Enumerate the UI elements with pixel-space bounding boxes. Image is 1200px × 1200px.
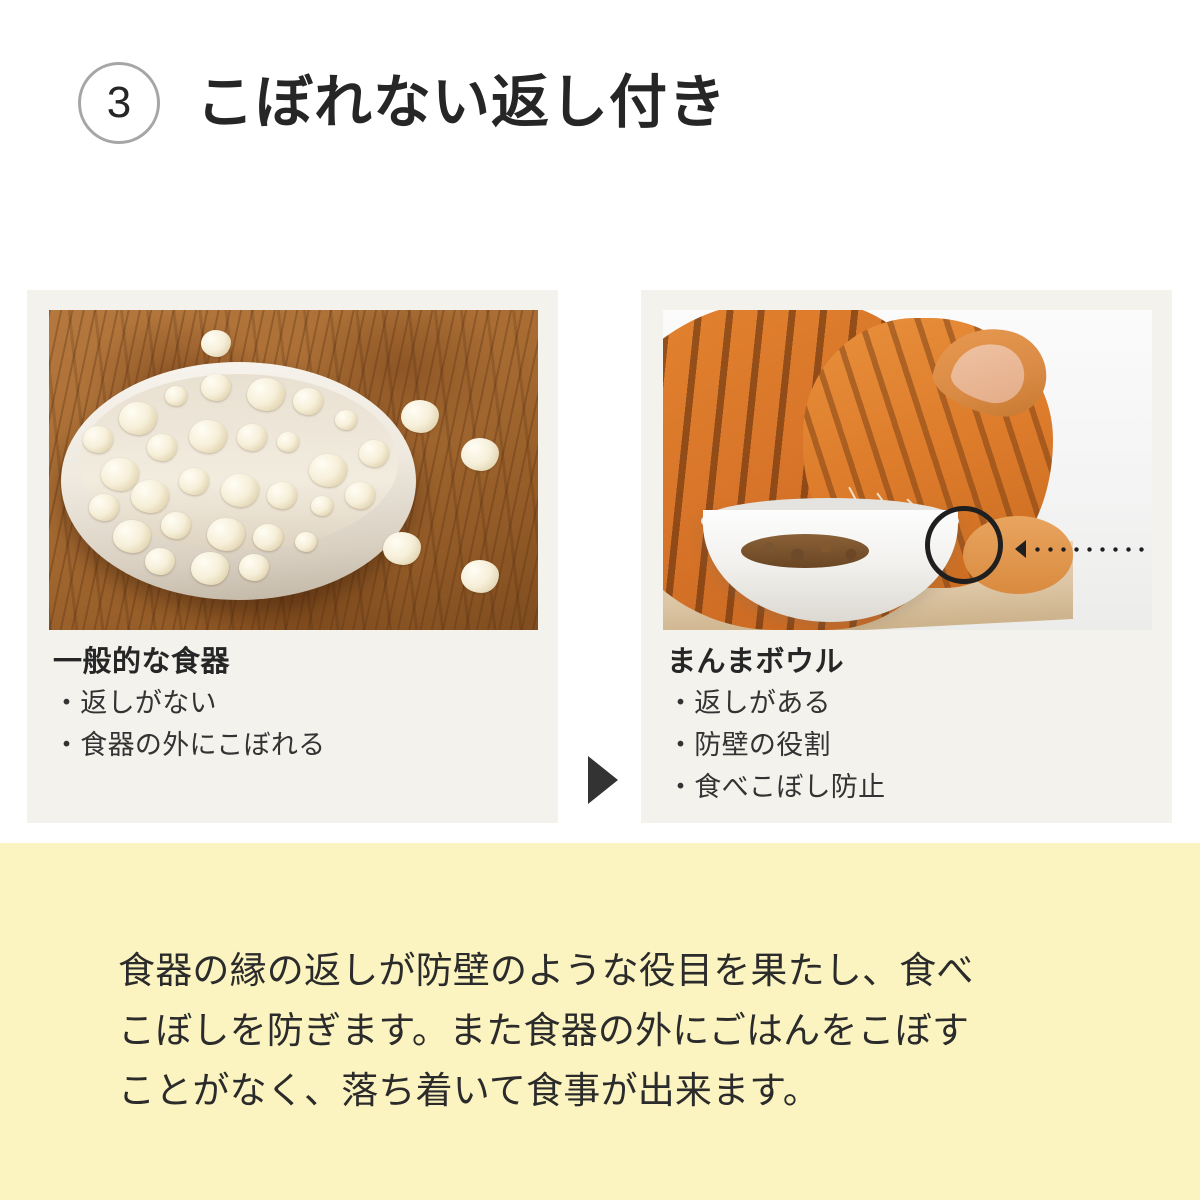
arrow-left-icon xyxy=(1015,540,1026,558)
step-number-label: 3 xyxy=(107,81,131,125)
comparison-card-generic-dish: 一般的な食器 ・返しがない ・食器の外にこぼれる xyxy=(27,290,558,823)
popcorn-piece xyxy=(295,532,317,552)
annotation-pointer xyxy=(1015,540,1152,558)
list-item: ・食器の外にこぼれる xyxy=(53,724,325,766)
description-band: 食器の縁の返しが防壁のような役目を果たし、食べ こぼしを防ぎます。また食器の外に… xyxy=(0,843,1200,1200)
spilled-popcorn-piece xyxy=(401,400,439,433)
popcorn-piece xyxy=(161,512,191,539)
popcorn-piece xyxy=(293,388,323,415)
popcorn-piece xyxy=(113,520,151,553)
feature-list-right: ・返しがある ・防壁の役割 ・食べこぼし防止 xyxy=(667,682,885,808)
popcorn-piece xyxy=(89,494,119,521)
popcorn-piece xyxy=(345,482,375,509)
popcorn-piece xyxy=(145,548,175,575)
description-text: 食器の縁の返しが防壁のような役目を果たし、食べ こぼしを防ぎます。また食器の外に… xyxy=(118,941,1108,1121)
popcorn-piece xyxy=(131,480,169,513)
popcorn-piece xyxy=(247,378,285,411)
cat-ear-inner xyxy=(947,336,1030,409)
spilled-popcorn-piece xyxy=(461,560,499,593)
popcorn-piece xyxy=(165,386,187,406)
list-item: ・返しがある xyxy=(667,682,885,724)
popcorn-piece xyxy=(309,454,347,487)
list-item: ・防壁の役割 xyxy=(667,724,885,766)
card-title-right: まんまボウル xyxy=(667,638,844,680)
popcorn-piece xyxy=(147,434,177,461)
rim-highlight-circle-icon xyxy=(925,506,1003,584)
description-line: ことがなく、落ち着いて食事が出来ます。 xyxy=(118,1061,1108,1121)
popcorn-piece xyxy=(83,426,113,453)
list-item: ・食べこぼし防止 xyxy=(667,766,885,808)
popcorn-piece xyxy=(119,402,157,435)
cat-eating-photo xyxy=(663,310,1152,630)
header: 3 こぼれない返し付き xyxy=(0,0,1200,290)
popcorn-piece xyxy=(267,482,297,509)
spilled-popcorn-piece xyxy=(461,438,499,471)
popcorn-bowl-photo xyxy=(49,310,538,630)
spilled-popcorn-piece xyxy=(201,330,231,357)
page-title: こぼれない返し付き xyxy=(196,74,727,132)
popcorn-piece xyxy=(335,410,357,430)
description-line: 食器の縁の返しが防壁のような役目を果たし、食べ xyxy=(118,941,1108,1001)
dotted-leader-line xyxy=(1031,547,1152,552)
popcorn-piece xyxy=(311,496,333,516)
feature-list-left: ・返しがない ・食器の外にこぼれる xyxy=(53,682,325,766)
popcorn-piece xyxy=(207,518,245,551)
popcorn-piece xyxy=(191,552,229,585)
popcorn-piece xyxy=(239,554,269,581)
popcorn-piece xyxy=(201,374,231,401)
comparison-section: 一般的な食器 ・返しがない ・食器の外にこぼれる xyxy=(0,290,1200,843)
popcorn-piece xyxy=(277,432,299,452)
spilled-popcorn-piece xyxy=(383,532,421,565)
popcorn-piece xyxy=(237,424,267,451)
description-line: こぼしを防ぎます。また食器の外にごはんをこぼす xyxy=(118,1001,1108,1061)
transition-arrow-icon xyxy=(588,756,618,804)
step-number-badge: 3 xyxy=(78,62,160,144)
list-item: ・返しがない xyxy=(53,682,325,724)
popcorn-piece xyxy=(359,440,389,467)
cat-food-kibble xyxy=(741,534,869,568)
popcorn-piece xyxy=(253,524,283,551)
white-bowl-shape xyxy=(61,362,416,600)
heading-row: 3 こぼれない返し付き xyxy=(78,62,727,144)
popcorn-piece xyxy=(179,468,209,495)
comparison-card-manma-bowl: まんまボウル ・返しがある ・防壁の役割 ・食べこぼし防止 xyxy=(641,290,1172,823)
popcorn-piece xyxy=(189,420,227,453)
popcorn-piece xyxy=(101,458,139,491)
card-title-left: 一般的な食器 xyxy=(53,638,230,680)
popcorn-piece xyxy=(221,474,259,507)
